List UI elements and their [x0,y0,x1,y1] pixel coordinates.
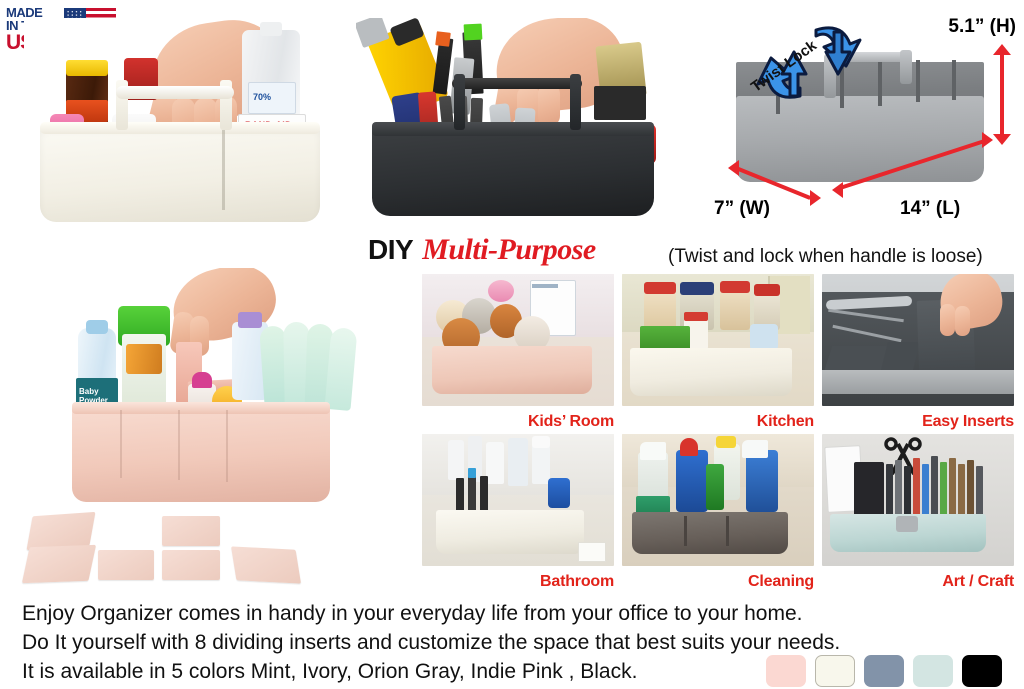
swatch-black [962,655,1002,687]
height-arrow-line [1000,52,1004,138]
bottle-cap [66,60,108,76]
photo-kitchen [622,274,814,406]
divider-seam [178,410,180,480]
length-arrow-start [832,182,843,198]
black-caddy [372,128,654,216]
headline-multi-purpose: Multi-Purpose [422,233,596,267]
divider-insert [162,550,220,580]
bottle-cap [238,312,262,328]
handle-post [900,50,912,84]
hex-key-holder [594,86,646,120]
wipes-label [126,344,162,374]
photo-baby-organizer: Baby Powder [10,268,410,588]
marker [895,460,902,516]
description-line-2: Do It yourself with 8 dividing inserts a… [22,629,782,656]
divider-insert [162,516,220,546]
divider [916,60,920,102]
marker [976,466,983,516]
swatch-ivory [815,655,855,687]
divider-insert [98,550,154,580]
caddy-rim [72,402,330,414]
divider-seam [120,410,122,478]
use-case-grid: Kids’ Room Kitchen [418,272,1018,592]
height-arrow-bottom [993,134,1011,145]
length-arrow-end [982,132,993,148]
photo-kids-room [422,274,614,406]
photo-tool-organizer [356,18,666,230]
description-text: Enjoy Organizer comes in handy in your e… [22,600,782,687]
ivory-caddy [630,348,792,396]
handle-post [454,74,465,130]
bottle-nipple [192,372,212,388]
height-label: 5.1” (H) [948,16,1016,38]
green-spray [706,464,724,510]
photo-bathroom [422,434,614,566]
length-label: 14” (L) [900,198,960,220]
photo-first-aid-organizer: 70% BAND-AID BAND-AID [24,18,324,230]
dimension-diagram: Twist Lock 5.1” (H) 7” (W) 14” (L) [700,0,1024,240]
divider [222,130,225,210]
bottle-cap [716,436,736,448]
jar-lid [720,281,750,293]
marker [922,464,929,516]
pink-caddy [432,346,592,394]
width-label: 7” (W) [714,198,770,220]
handle-post [570,74,581,130]
use-case-bathroom: Bathroom [418,432,618,592]
marker-cap [435,31,451,47]
toothbrush [456,478,464,514]
jar-lid [680,282,714,295]
ivory-caddy [436,510,584,554]
divider-insert [231,546,301,583]
divider-seam [226,410,228,482]
toiletry-bottle [448,440,464,480]
caddy-handle [452,78,582,89]
book-line [532,284,558,288]
use-case-easy-inserts: Easy Inserts [818,272,1018,432]
width-arrow-start [728,160,739,176]
gnome-cap [680,438,698,456]
toiletry-bottle [486,442,504,484]
caddy-front [822,370,1014,394]
use-case-kitchen: Kitchen [618,272,818,432]
height-arrow-top [993,44,1011,55]
jar-lid [644,282,676,294]
clorox-bottle [746,450,778,512]
use-case-caption: Art / Craft [942,573,1014,591]
photo-easy-inserts [822,274,1014,406]
color-swatches [766,655,1002,687]
marker [904,466,911,516]
spray-trigger [742,440,768,458]
divider [878,62,882,106]
caddy-rim [372,122,654,136]
alcohol-label: 70% [248,82,296,114]
marker [940,462,947,516]
jar-lid [684,312,708,321]
divider [684,516,687,546]
finger [955,306,970,336]
ivory-caddy [40,126,320,222]
bottle-cap [532,436,550,448]
width-arrow-end [810,190,821,206]
pencil [949,458,956,516]
divider-insert [578,542,606,562]
caddy-handle [116,86,234,99]
use-case-art-craft: Art / Craft [818,432,1018,592]
gray-caddy [632,512,788,554]
swatch-indie-pink [766,655,806,687]
divider [726,516,729,546]
divider-insert [22,545,96,583]
marker [913,458,920,516]
product-infographic: MADE IN THE USA 70% BAND-AID [0,0,1024,689]
headline: DIY Multi-Purpose [368,233,596,267]
use-case-caption: Kids’ Room [528,413,614,431]
description-line-3: It is available in 5 colors Mint, Ivory,… [22,658,782,685]
photo-art-craft [822,434,1014,566]
caddy-rim [40,122,320,134]
blue-lid-jar [750,324,778,350]
finger [538,84,560,126]
toothbrush-head [468,468,476,478]
headline-diy: DIY [368,234,413,266]
swatch-orion-gray [864,655,904,687]
caddy-latch [896,516,918,532]
toiletry-bottle [508,438,528,486]
use-case-kids-room: Kids’ Room [418,272,618,432]
toiletry-bottle [532,444,550,484]
swatch-mint [913,655,953,687]
use-case-caption: Cleaning [748,573,814,591]
clorox-bottle [676,450,708,512]
use-case-caption: Easy Inserts [922,413,1014,431]
use-case-caption: Kitchen [757,413,814,431]
pink-caddy [72,406,330,502]
toothbrush [468,474,476,514]
pencil [967,460,974,516]
alcohol-cap [260,22,282,36]
alcohol-percent: 70% [253,92,271,102]
pencil [958,464,965,516]
jar-lid [754,284,780,296]
black-notebook [854,462,884,516]
finger [940,304,955,336]
use-case-caption: Bathroom [540,573,614,591]
highlighter-cap [464,24,483,41]
spray-trigger [640,442,666,460]
lotion-cap [86,320,108,334]
divider [952,60,956,100]
marker [931,456,938,516]
plush-toy [488,280,514,302]
description-line-1: Enjoy Organizer comes in handy in your e… [22,600,782,627]
soap-dispenser [548,478,570,508]
twist-lock-note: (Twist and lock when handle is loose) [668,246,983,268]
use-case-cleaning: Cleaning [618,432,818,592]
photo-cleaning [622,434,814,566]
toothbrush [480,476,488,514]
marker [886,464,893,516]
